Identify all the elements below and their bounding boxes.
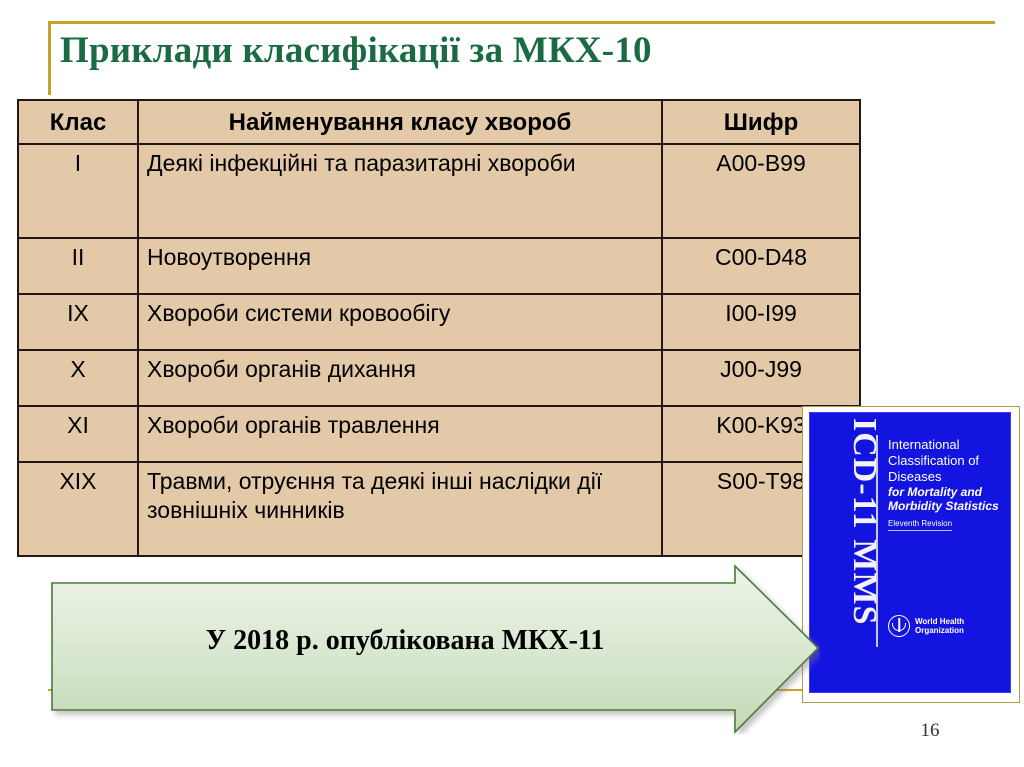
cell-name: Травми, отруєння та деякі інші наслідки … [138,462,662,556]
book-title-line-1: International [888,437,1006,453]
page-number: 16 [900,720,960,742]
table-row: IX Хвороби системи кровообігу I00-I99 [18,294,860,350]
book-subtitle-line-1: for Mortality and [888,485,1006,499]
arrow-callout-text: У 2018 р. опублікована МКХ-11 [60,625,750,657]
column-header-class: Клас [18,100,138,144]
icd-classification-table: Клас Найменування класу хвороб Шифр I Де… [17,99,861,557]
cell-name: Деякі інфекційні та паразитарні хвороби [138,144,662,238]
who-logo-block: World Health Organization [888,615,964,637]
cell-class: X [18,350,138,406]
column-header-code: Шифр [662,100,860,144]
book-revision-label: Eleventh Revision [888,519,952,531]
book-divider-rule [876,435,878,647]
cell-name: Хвороби органів травлення [138,406,662,462]
cell-class: IX [18,294,138,350]
table-row: I Деякі інфекційні та паразитарні хвороб… [18,144,860,238]
table-header-row: Клас Найменування класу хвороб Шифр [18,100,860,144]
cell-class: XIX [18,462,138,556]
cell-code: I00-I99 [662,294,860,350]
column-header-name: Найменування класу хвороб [138,100,662,144]
decorative-top-rule [48,21,995,24]
cell-class: XI [18,406,138,462]
table-row: XI Хвороби органів травлення K00-K93 [18,406,860,462]
decorative-left-rule [48,21,51,95]
cell-class: II [18,238,138,294]
table-row: X Хвороби органів дихання J00-J99 [18,350,860,406]
icd-11-book-cover-image: ICD-11 MMS International Classification … [810,413,1010,692]
cell-code: A00-B99 [662,144,860,238]
book-title-line-2: Classification of [888,453,1006,469]
cell-name: Хвороби системи кровообігу [138,294,662,350]
cell-class: I [18,144,138,238]
table-row: II Новоутворення C00-D48 [18,238,860,294]
who-emblem-icon [888,615,910,637]
cell-code: C00-D48 [662,238,860,294]
cell-name: Новоутворення [138,238,662,294]
table-row: XIX Травми, отруєння та деякі інші наслі… [18,462,860,556]
cell-code: J00-J99 [662,350,860,406]
cell-name: Хвороби органів дихання [138,350,662,406]
who-organization-label: World Health Organization [915,617,964,636]
page-title: Приклади класифікації за МКХ-10 [60,28,960,74]
book-title-block: International Classification of Diseases… [888,437,1006,531]
book-subtitle-line-2: Morbidity Statistics [888,499,1006,513]
book-title-line-3: Diseases [888,469,1006,485]
